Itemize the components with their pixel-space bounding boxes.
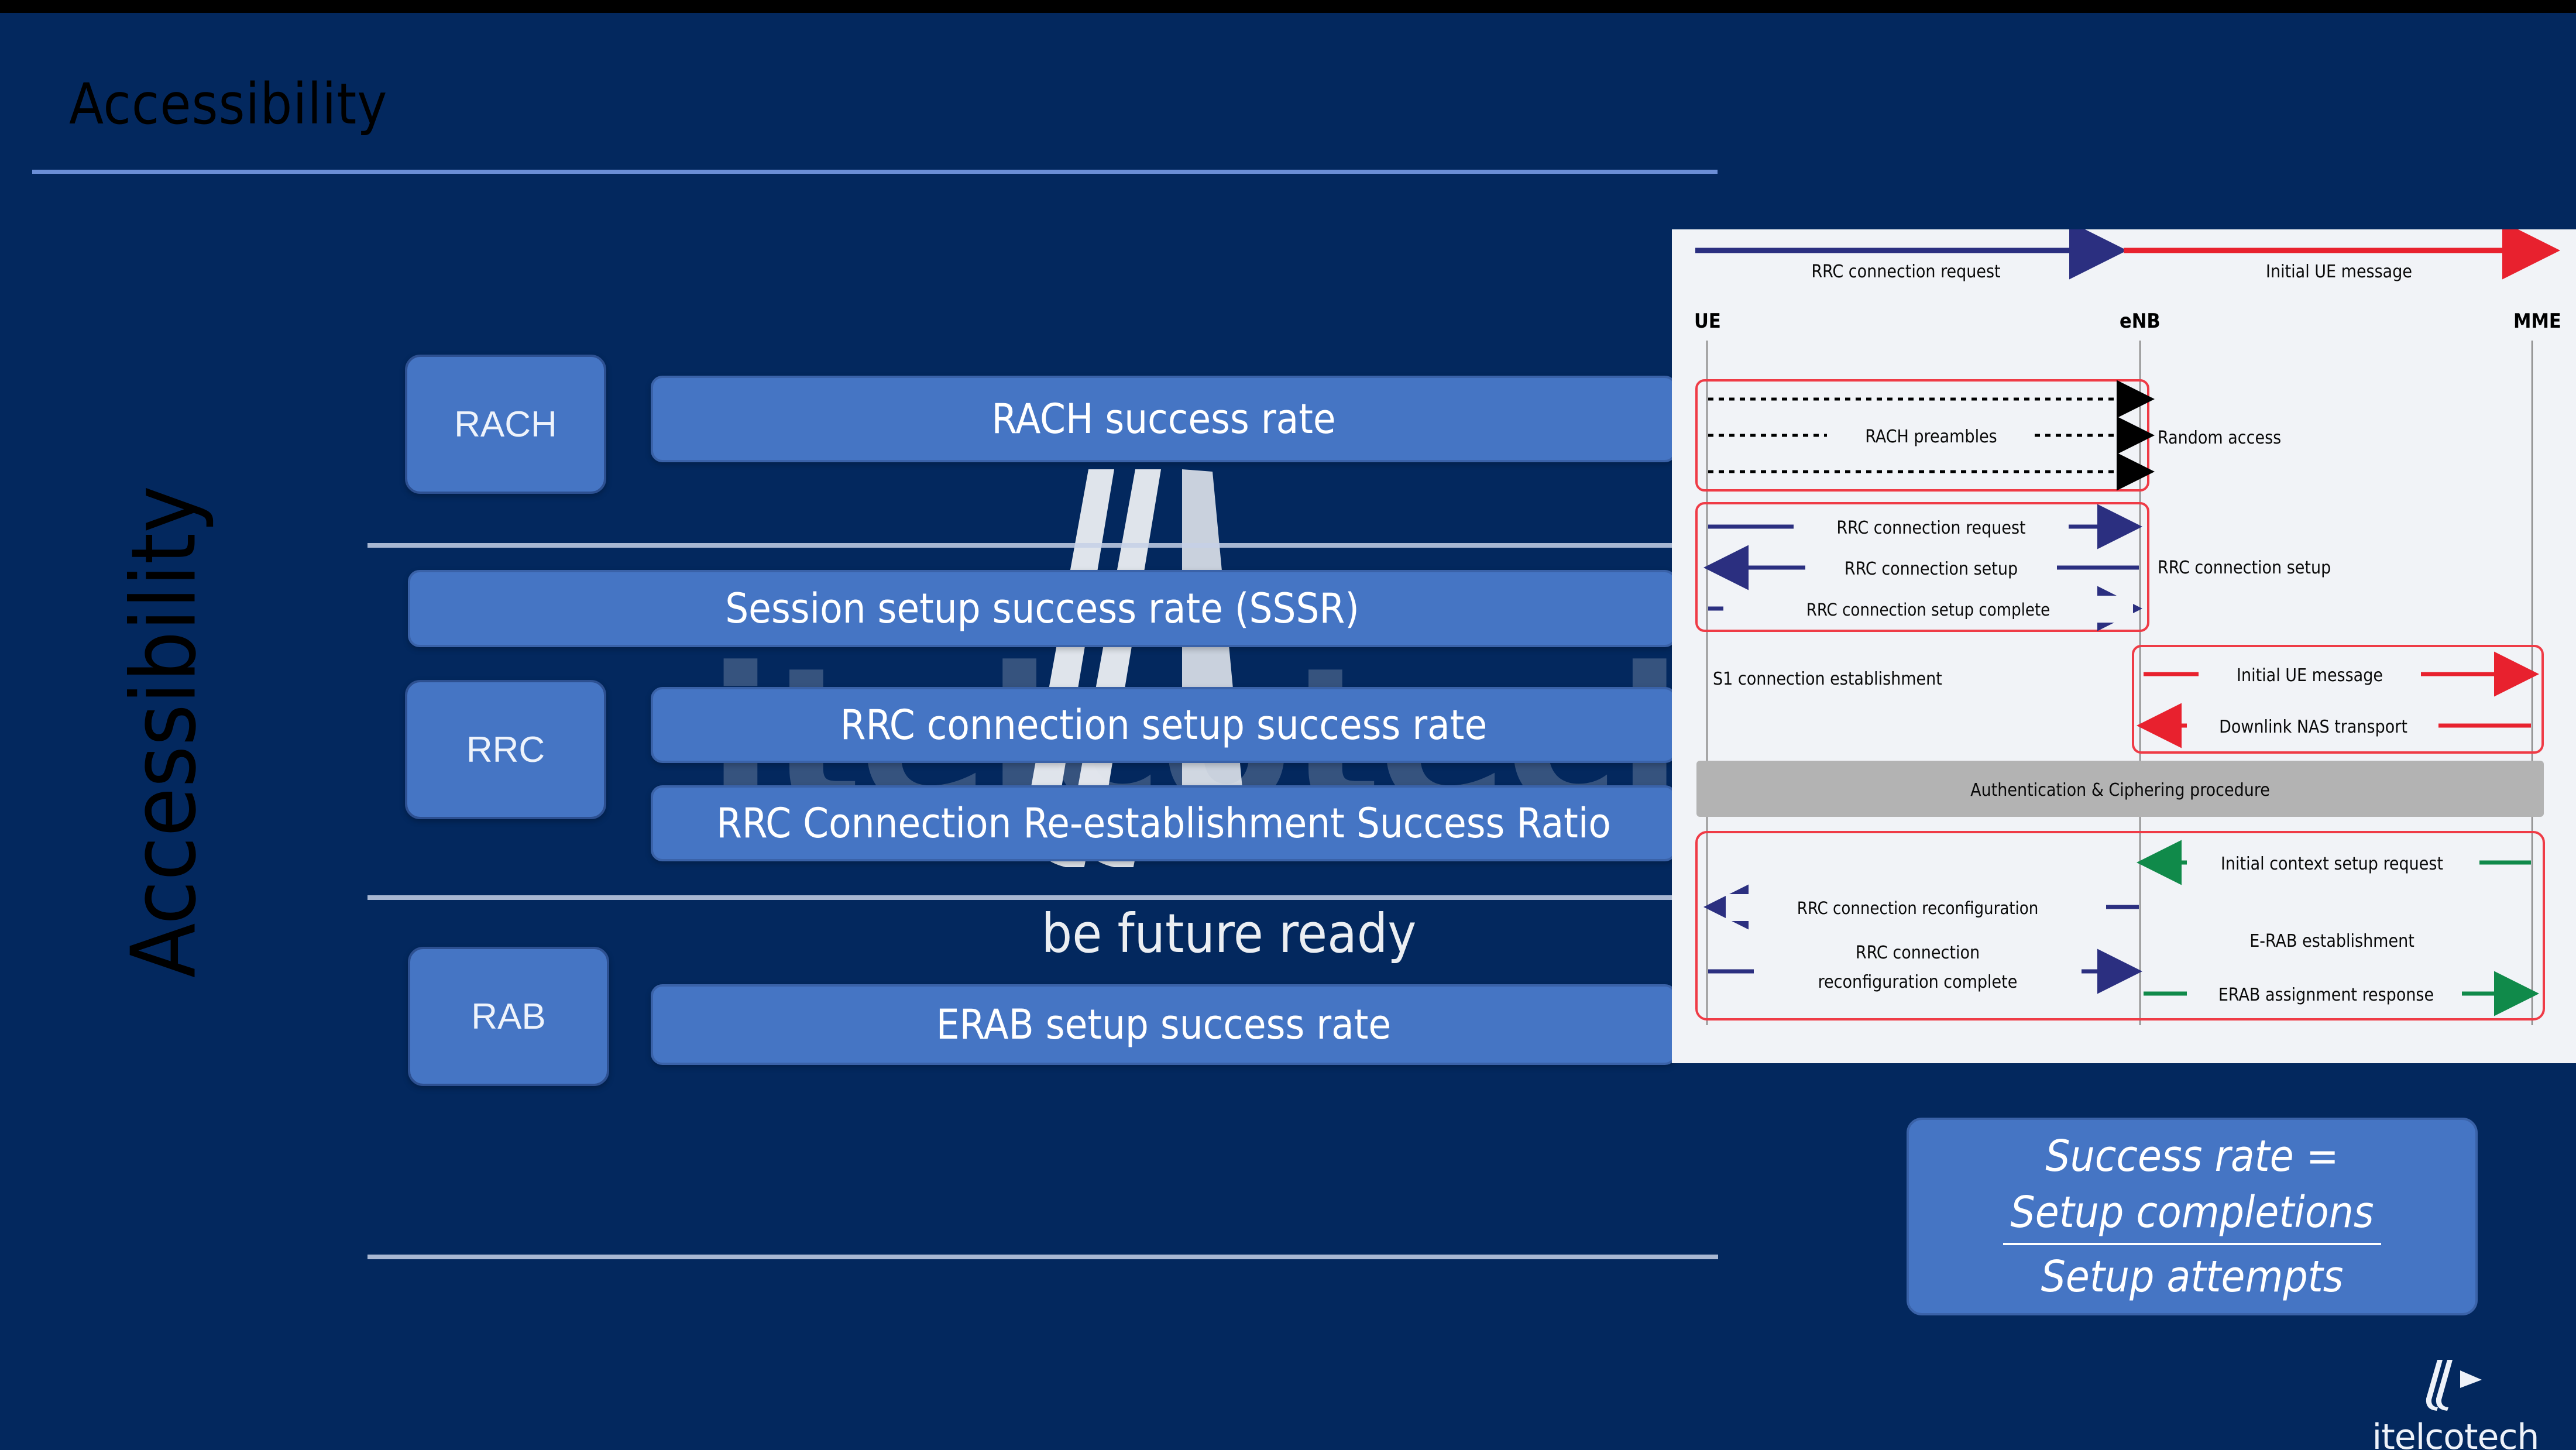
svg-text:Initial UE message: Initial UE message — [2266, 262, 2412, 282]
kpi-label: RACH success rate — [991, 395, 1335, 443]
separator-rrc-rab — [367, 895, 1718, 900]
kpi-label: Session setup success rate (SSSR) — [725, 585, 1359, 633]
lte-attach-sequence-diagram: .lbl{font-family:"DejaVu Sans Condensed"… — [1672, 229, 2576, 1063]
page-title: Accessibility — [69, 71, 387, 137]
category-rrc[interactable]: RRC — [405, 680, 606, 819]
svg-text:Random access: Random access — [2158, 428, 2281, 448]
separator-rach-rrc — [367, 543, 1718, 548]
svg-text:RRC connection setup complete: RRC connection setup complete — [1806, 600, 2051, 620]
title-underline-rule — [32, 170, 1718, 174]
category-rab-label: RAB — [471, 996, 545, 1037]
corner-logo: itelcotech — [2335, 1352, 2576, 1450]
svg-text:reconfiguration complete: reconfiguration complete — [1818, 972, 2018, 992]
watermark-tagline: be future ready — [644, 902, 1814, 965]
category-rach-label: RACH — [454, 404, 557, 445]
category-rrc-label: RRC — [466, 729, 545, 771]
svg-text:E-RAB establishment: E-RAB establishment — [2249, 931, 2414, 951]
svg-text:RRC connection setup: RRC connection setup — [2158, 558, 2331, 578]
kpi-label: ERAB setup success rate — [936, 1001, 1391, 1049]
svg-text:S1 connection establishment: S1 connection establishment — [1713, 669, 1942, 689]
kpi-rrc-reestablishment-success-ratio[interactable]: RRC Connection Re-establishment Success … — [651, 785, 1677, 861]
svg-text:RRC connection request: RRC connection request — [1836, 518, 2025, 538]
svg-text:RACH preambles: RACH preambles — [1865, 427, 1997, 447]
kpi-rach-success-rate[interactable]: RACH success rate — [651, 376, 1677, 462]
kpi-label: RRC Connection Re-establishment Success … — [716, 799, 1611, 847]
svg-text:RRC connection reconfiguration: RRC connection reconfiguration — [1797, 898, 2039, 918]
logo-brand-label: itelcotech — [2372, 1417, 2539, 1450]
kpi-rrc-connection-setup-success-rate[interactable]: RRC connection setup success rate — [651, 687, 1677, 763]
svg-text:Downlink NAS transport: Downlink NAS transport — [2219, 717, 2407, 737]
formula-denominator: Setup attempts — [2041, 1245, 2344, 1305]
svg-text:ERAB assignment response: ERAB assignment response — [2218, 985, 2434, 1005]
kpi-session-setup-success-rate[interactable]: Session setup success rate (SSSR) — [408, 570, 1677, 647]
svg-text:Authentication & Ciphering pro: Authentication & Ciphering procedure — [1970, 780, 2270, 800]
svg-text:RRC connection request: RRC connection request — [1811, 262, 2000, 282]
vertical-axis-label: Accessibility — [112, 358, 216, 1107]
top-black-bar — [0, 0, 2576, 13]
svg-text:RRC connection setup: RRC connection setup — [1845, 559, 2018, 579]
category-rach[interactable]: RACH — [405, 355, 606, 494]
slide-canvas: Accessibility Accessibility itelcotech b… — [0, 13, 2576, 1450]
formula-numerator: Setup completions — [2003, 1184, 2381, 1245]
svg-text:Initial UE message: Initial UE message — [2237, 665, 2383, 686]
kpi-erab-setup-success-rate[interactable]: ERAB setup success rate — [651, 984, 1677, 1065]
separator-bottom — [367, 1255, 1718, 1259]
svg-text:eNB: eNB — [2120, 310, 2161, 333]
kpi-label: RRC connection setup success rate — [840, 701, 1487, 749]
svg-text:Initial context setup request: Initial context setup request — [2221, 854, 2443, 874]
svg-text:UE: UE — [1694, 310, 1721, 333]
svg-text:MME: MME — [2513, 310, 2561, 333]
success-rate-formula-box: Success rate = Setup completions Setup a… — [1907, 1118, 2478, 1315]
svg-text:RRC connection: RRC connection — [1856, 943, 1980, 963]
formula-heading: Success rate = — [2045, 1128, 2338, 1184]
itelcotech-mark-icon — [2423, 1358, 2488, 1414]
category-rab[interactable]: RAB — [408, 947, 609, 1086]
